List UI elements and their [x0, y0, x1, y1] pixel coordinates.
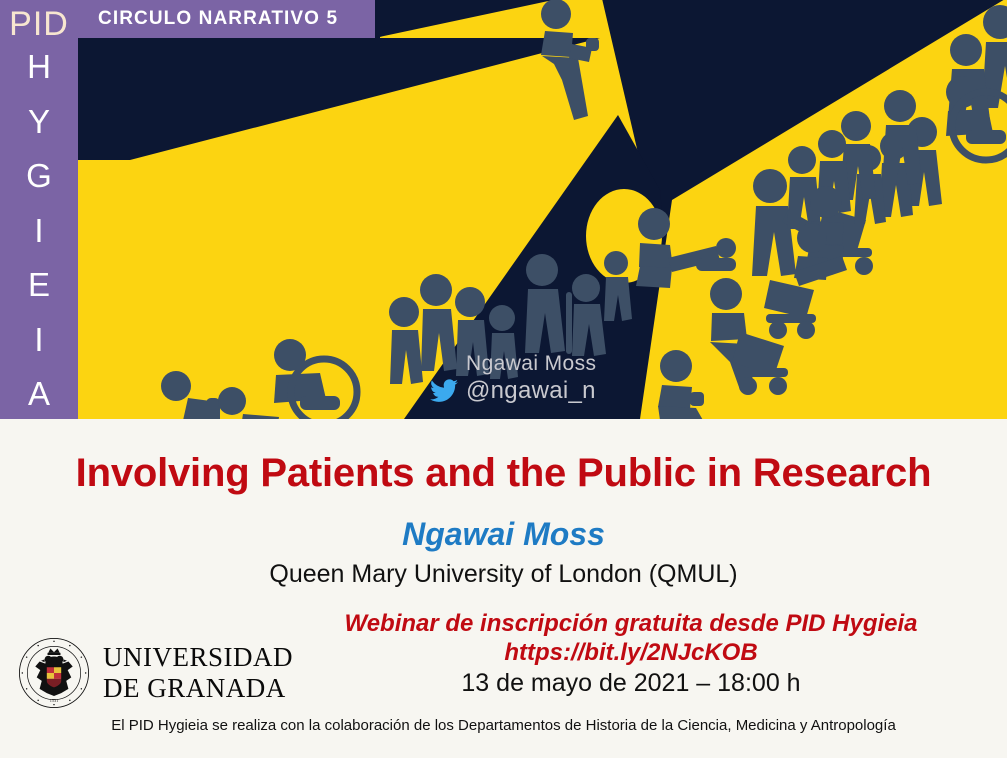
sidebar-letter: G: [26, 159, 52, 192]
credit-name: Ngawai Moss: [430, 352, 596, 376]
webinar-note: Webinar de inscripción gratuita desde PI…: [255, 609, 1007, 638]
banner-label: CIRCULO NARRATIVO 5: [78, 8, 338, 30]
sidebar-letter: H: [27, 50, 51, 83]
ugr-line-1: UNIVERSIDAD: [103, 642, 293, 673]
circulo-narrativo-banner: CIRCULO NARRATIVO 5: [78, 0, 375, 38]
speaker-affiliation: Queen Mary University of London (QMUL): [0, 559, 1007, 589]
credit-handle: @ngawai_n: [466, 378, 596, 404]
sidebar-letter: E: [28, 268, 50, 301]
event-datetime: 13 de mayo de 2021 – 18:00 h: [255, 668, 1007, 698]
twitter-bird-icon: [430, 379, 458, 403]
sidebar-letter-stack: H Y G I E I A: [0, 46, 78, 416]
ugr-wordmark: UNIVERSIDAD DE GRANADA: [103, 642, 293, 704]
seal-year-text: 1531: [50, 698, 59, 703]
ugr-seal-icon: 1531: [18, 637, 90, 709]
ugr-logo: 1531 UNIVERSIDAD DE GRANADA: [18, 637, 293, 709]
hero-banner: Ngawai Moss @ngawai_n PID H Y G I E I A: [0, 0, 1007, 419]
sidebar-letter: I: [34, 214, 43, 247]
sidebar-pid-label: PID: [0, 4, 78, 44]
page-title: Involving Patients and the Public in Res…: [0, 450, 1007, 496]
speaker-name: Ngawai Moss: [0, 515, 1007, 553]
twitter-credit: Ngawai Moss @ngawai_n: [430, 352, 596, 404]
registration-link[interactable]: https://bit.ly/2NJcKOB: [255, 638, 1007, 667]
sidebar-hygieia: PID H Y G I E I A: [0, 0, 78, 419]
sidebar-letter: A: [28, 377, 50, 410]
sidebar-letter: I: [34, 323, 43, 356]
poster-root: Ngawai Moss @ngawai_n PID H Y G I E I A: [0, 0, 1007, 758]
ugr-line-2: DE GRANADA: [103, 673, 293, 704]
collaboration-footnote: El PID Hygieia se realiza con la colabor…: [0, 716, 1007, 736]
sidebar-letter: Y: [28, 105, 50, 138]
